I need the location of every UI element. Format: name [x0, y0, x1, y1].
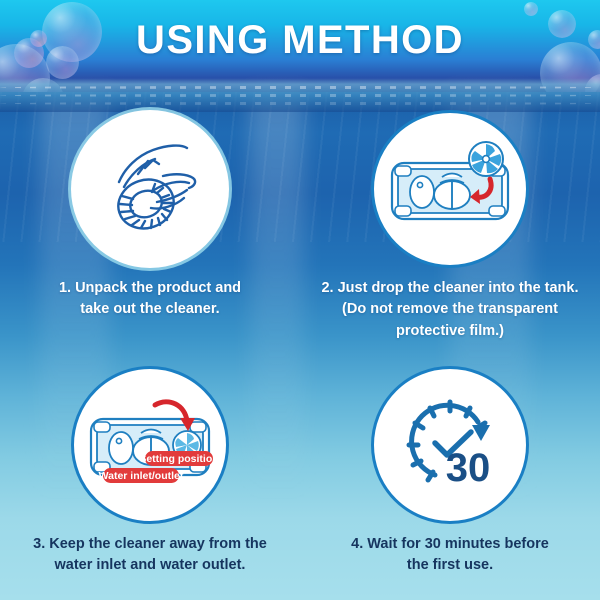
step-1: 1. Unpack the product and take out the c… [0, 104, 300, 321]
caption-line: 4. Wait for 30 minutes before [316, 534, 584, 555]
water-inlet-outlet-label: Water inlet/outlet [99, 470, 184, 482]
timer-value: 30 [446, 446, 491, 490]
caption-line: take out the cleaner. [16, 299, 284, 320]
step-4: 30 4. Wait for 30 minutes before the fir… [300, 360, 600, 577]
setting-position-badge: Setting position [139, 451, 217, 466]
caption-line: (Do not remove the transparent [316, 299, 584, 320]
water-inlet-outlet-badge: Water inlet/outlet [99, 468, 184, 483]
step-4-caption: 4. Wait for 30 minutes before the first … [300, 534, 600, 577]
step-2-icon-circle [371, 110, 529, 268]
caption-line: protective film.) [316, 321, 584, 342]
tank-setting-position-icon: Setting position Water inlet/outlet [83, 389, 217, 501]
step-2-caption: 2. Just drop the cleaner into the tank. … [300, 278, 600, 342]
hand-unwrapping-cleaner-icon [91, 130, 209, 248]
step-1-icon-circle [71, 110, 229, 268]
step-3: Setting position Water inlet/outlet 3. K… [0, 360, 300, 577]
using-method-infographic: USING METHOD [0, 0, 600, 600]
step-3-caption: 3. Keep the cleaner away from the water … [0, 534, 300, 577]
step-4-icon-circle: 30 [371, 366, 529, 524]
tank-drop-cleaner-icon [386, 137, 514, 241]
setting-position-label: Setting position [139, 453, 217, 465]
step-1-caption: 1. Unpack the product and take out the c… [0, 278, 300, 321]
page-title: USING METHOD [0, 18, 600, 63]
step-3-icon-circle: Setting position Water inlet/outlet [71, 366, 229, 524]
timer-30-minutes-icon: 30 [394, 389, 506, 501]
caption-line: the first use. [316, 555, 584, 576]
ripple-line [0, 86, 600, 89]
bubble-decoration [524, 2, 538, 16]
caption-line: 3. Keep the cleaner away from the [16, 534, 284, 555]
steps-grid: 1. Unpack the product and take out the c… [0, 96, 600, 600]
caption-line: water inlet and water outlet. [16, 555, 284, 576]
step-2: 2. Just drop the cleaner into the tank. … [300, 104, 600, 342]
caption-line: 2. Just drop the cleaner into the tank. [316, 278, 584, 299]
caption-line: 1. Unpack the product and [16, 278, 284, 299]
